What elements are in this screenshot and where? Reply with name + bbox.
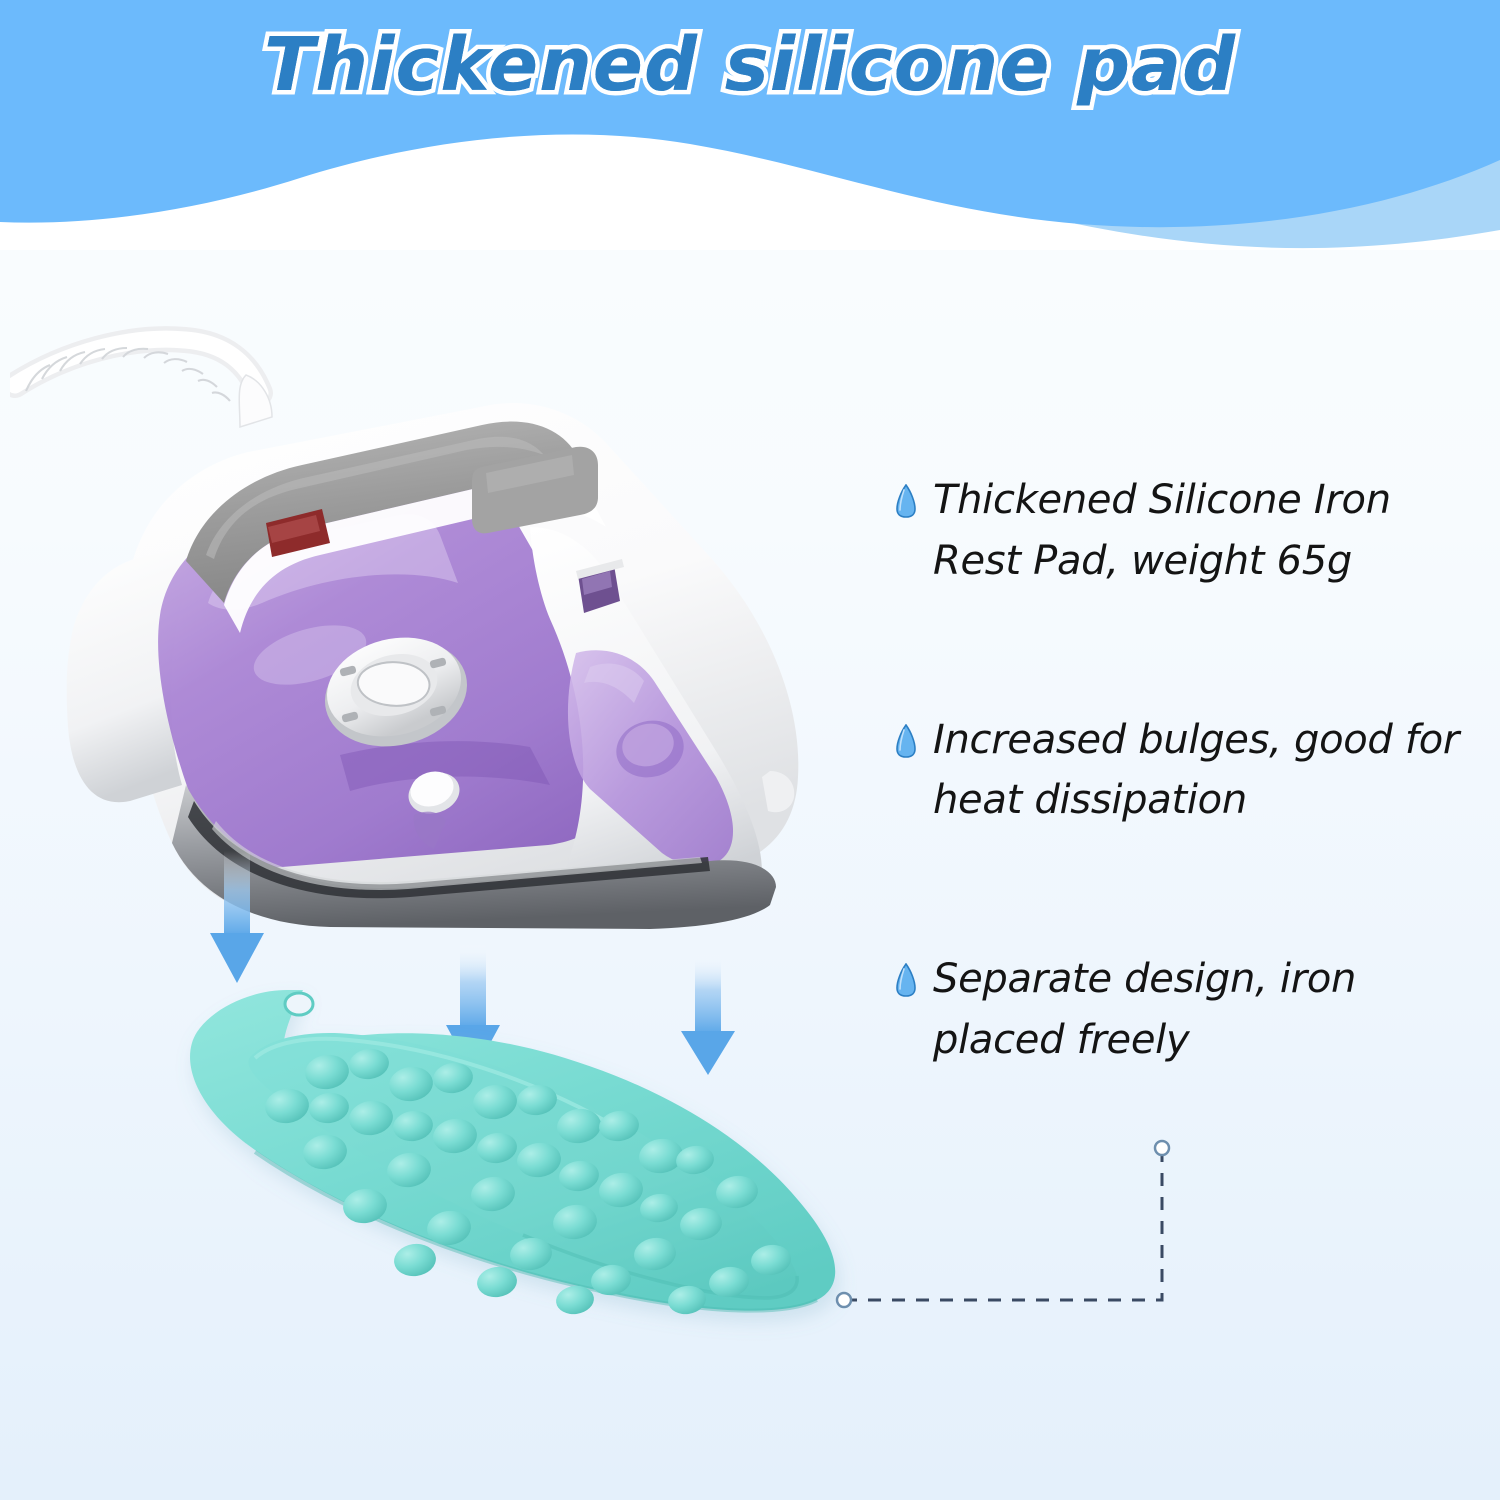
feature-text: Separate design, iron placed freely [933, 949, 1473, 1071]
dimension-guides-graphic [820, 1120, 1240, 1340]
header-banner: Thickened silicone pad Thickened silicon… [0, 0, 1500, 250]
feature-text: Thickened Silicone Iron Rest Pad, weight… [933, 470, 1473, 592]
power-cord [15, 339, 272, 427]
silicone-pad-graphic [55, 960, 895, 1350]
silicone-pad-product-image [55, 960, 895, 1350]
page-title: Thickened silicone pad [0, 22, 1500, 108]
iron-sole-bullet-icon [895, 724, 917, 758]
list-item: Thickened Silicone Iron Rest Pad, weight… [895, 470, 1480, 592]
iron-sole-bullet-icon [895, 484, 917, 518]
feature-text: Increased bulges, good for heat dissipat… [933, 710, 1473, 832]
feature-list: Thickened Silicone Iron Rest Pad, weight… [895, 470, 1480, 1071]
iron-sole-bullet-icon [895, 963, 917, 997]
steam-iron-graphic [10, 315, 870, 935]
guide-endpoint-left [837, 1293, 851, 1307]
guide-endpoint-top [1155, 1141, 1169, 1155]
list-item: Separate design, iron placed freely [895, 949, 1480, 1071]
dimension-guides [820, 1120, 1240, 1340]
list-item: Increased bulges, good for heat dissipat… [895, 710, 1480, 832]
infographic-canvas: Thickened silicone pad Thickened silicon… [0, 0, 1500, 1500]
hang-hole [285, 993, 313, 1015]
guide-line-path [844, 1148, 1162, 1300]
iron-product-image [10, 315, 870, 935]
